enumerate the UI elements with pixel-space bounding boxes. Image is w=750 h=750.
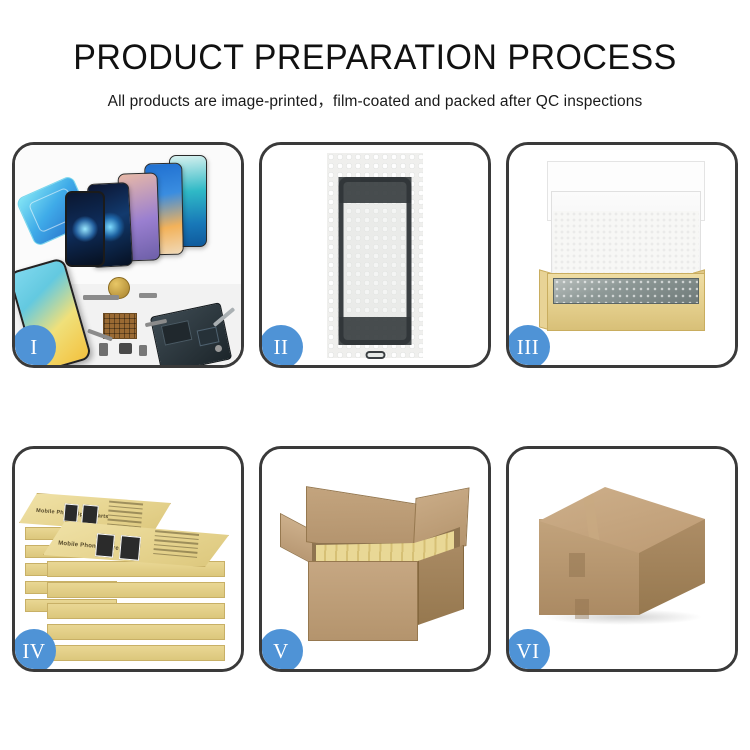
step-badge-5: V [259, 629, 303, 672]
process-step-6: VI [506, 446, 738, 672]
process-step-5: V [259, 446, 491, 672]
page-subtitle: All products are image-printed，film-coat… [0, 89, 750, 111]
wrapped-screen-icon [553, 278, 699, 304]
process-step-1: I [12, 142, 244, 368]
process-step-3: III [506, 142, 738, 368]
carton-front-icon [308, 561, 418, 641]
bubble-wrap-icon [327, 153, 423, 358]
process-step-4: Mobile Phone Spare Parts Mobile Phone Sp… [12, 446, 244, 672]
foam-liner-icon [553, 211, 699, 279]
product-preparation-infographic: PRODUCT PREPARATION PROCESS All products… [0, 0, 750, 750]
step-badge-2: II [259, 325, 303, 368]
step-badge-3: III [506, 325, 550, 368]
tempered-glass-icon [65, 191, 105, 267]
page-title: PRODUCT PREPARATION PROCESS [11, 40, 739, 75]
process-step-2: II [259, 142, 491, 368]
kraft-box-icon [547, 273, 705, 331]
header: PRODUCT PREPARATION PROCESS All products… [0, 0, 750, 111]
step-badge-1: I [12, 325, 56, 368]
step-badge-6: VI [506, 629, 550, 672]
step-badge-4: IV [12, 629, 56, 672]
screen-assembly-icon [339, 177, 412, 345]
process-step-grid: I II [12, 142, 738, 672]
